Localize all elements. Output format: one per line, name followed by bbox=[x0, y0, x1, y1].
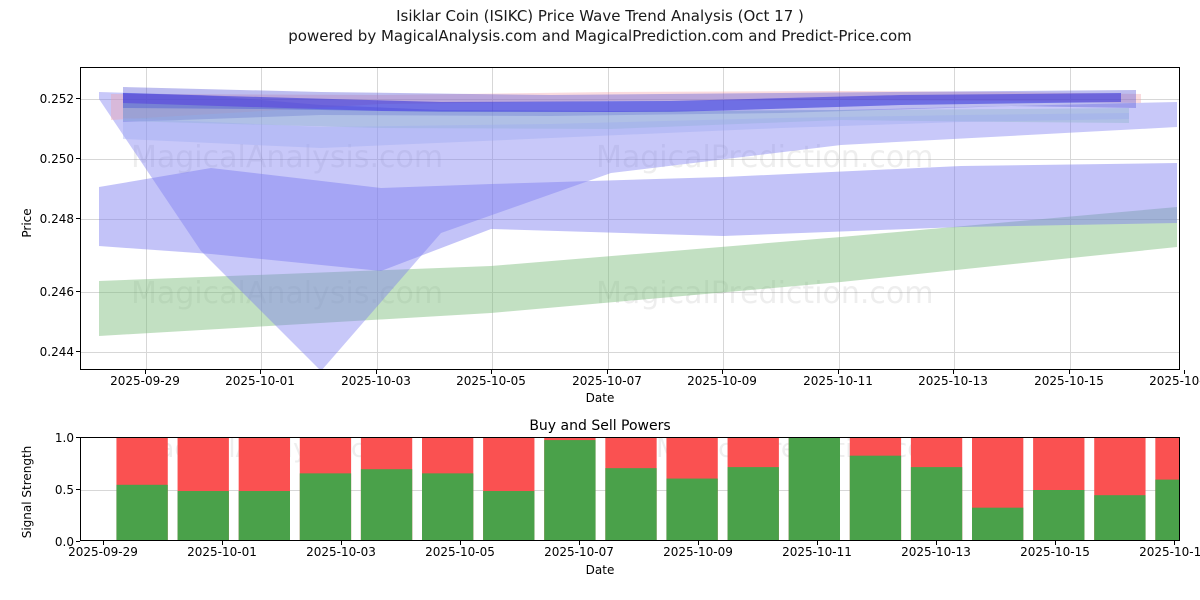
buy-power-bar bbox=[605, 468, 656, 541]
x-tick-label: 2025-10-05 bbox=[436, 374, 546, 388]
date-axis-label: Date bbox=[570, 563, 630, 577]
buy-power-bar bbox=[422, 473, 473, 541]
x-tick-label: 2025-10-09 bbox=[643, 545, 753, 559]
buy-power-bar bbox=[544, 440, 595, 541]
buy-power-bar bbox=[239, 491, 290, 541]
buy-power-bar bbox=[972, 508, 1023, 541]
x-tick-label: 2025-10-15 bbox=[1014, 374, 1124, 388]
buy-sell-plot-area: MagicalAnalysis.com MagicalPrediction.co… bbox=[80, 437, 1180, 541]
y-tick-label: 0.250 bbox=[26, 152, 74, 166]
x-tick-label: 2025-10-07 bbox=[552, 374, 662, 388]
buy-sell-title: Buy and Sell Powers bbox=[0, 418, 1200, 434]
buy-power-bar bbox=[728, 467, 779, 541]
buy-power-bar bbox=[1033, 490, 1084, 541]
date-axis-label: Date bbox=[570, 391, 630, 405]
x-tick-label: 2025-10-15 bbox=[1000, 545, 1110, 559]
buy-power-bar bbox=[116, 485, 167, 541]
price-plot-area: MagicalAnalysis.com MagicalPrediction.co… bbox=[80, 67, 1180, 370]
price-wave-panel: Price 0.252 0.250 0.248 0.246 0.244 bbox=[0, 0, 1200, 400]
y-tick-label: 0.252 bbox=[26, 92, 74, 106]
x-tick-label: 2025-10-17 bbox=[1119, 545, 1200, 559]
x-tick-label: 2025-10-09 bbox=[667, 374, 777, 388]
buy-power-bar bbox=[178, 491, 229, 541]
x-tick-label: 2025-10-07 bbox=[524, 545, 634, 559]
x-tick-label: 2025-10-11 bbox=[762, 545, 872, 559]
y-tick-label: 0.248 bbox=[26, 212, 74, 226]
y-tick-label: 0.5 bbox=[30, 483, 74, 497]
buy-power-bar bbox=[1155, 480, 1180, 541]
x-tick-label: 2025-10-11 bbox=[783, 374, 893, 388]
x-tick-label: 2025-10-03 bbox=[286, 545, 396, 559]
buy-power-bar bbox=[789, 438, 840, 541]
buy-power-bar bbox=[911, 467, 962, 541]
buy-power-bar bbox=[483, 491, 534, 541]
y-tick-label: 1.0 bbox=[30, 431, 74, 445]
buy-power-bar bbox=[850, 456, 901, 541]
buy-sell-panel: Buy and Sell Powers Signal Strength 1.0 … bbox=[0, 415, 1200, 600]
x-tick-label: 2025-10-01 bbox=[205, 374, 315, 388]
buy-power-bar bbox=[666, 479, 717, 541]
x-tick-label: 2025-10-13 bbox=[881, 545, 991, 559]
y-tick-label: 0.244 bbox=[26, 345, 74, 359]
x-tick-label: 2025-10-03 bbox=[321, 374, 431, 388]
buy-power-bar bbox=[300, 473, 351, 541]
y-tick-label: 0.246 bbox=[26, 285, 74, 299]
buy-sell-bars bbox=[81, 438, 1180, 541]
buy-power-bar bbox=[1094, 495, 1145, 541]
x-tick-label: 2025-09-29 bbox=[48, 545, 158, 559]
x-tick-label: 2025-10-17 bbox=[1129, 374, 1200, 388]
buy-power-bar bbox=[361, 469, 412, 541]
x-tick-label: 2025-09-29 bbox=[90, 374, 200, 388]
x-tick-label: 2025-10-05 bbox=[405, 545, 515, 559]
y-tick-mark bbox=[76, 541, 80, 542]
chart-page: Isiklar Coin (ISIKC) Price Wave Trend An… bbox=[0, 0, 1200, 600]
x-tick-label: 2025-10-13 bbox=[898, 374, 1008, 388]
price-wave-bands bbox=[81, 68, 1180, 370]
x-tick-label: 2025-10-01 bbox=[167, 545, 277, 559]
